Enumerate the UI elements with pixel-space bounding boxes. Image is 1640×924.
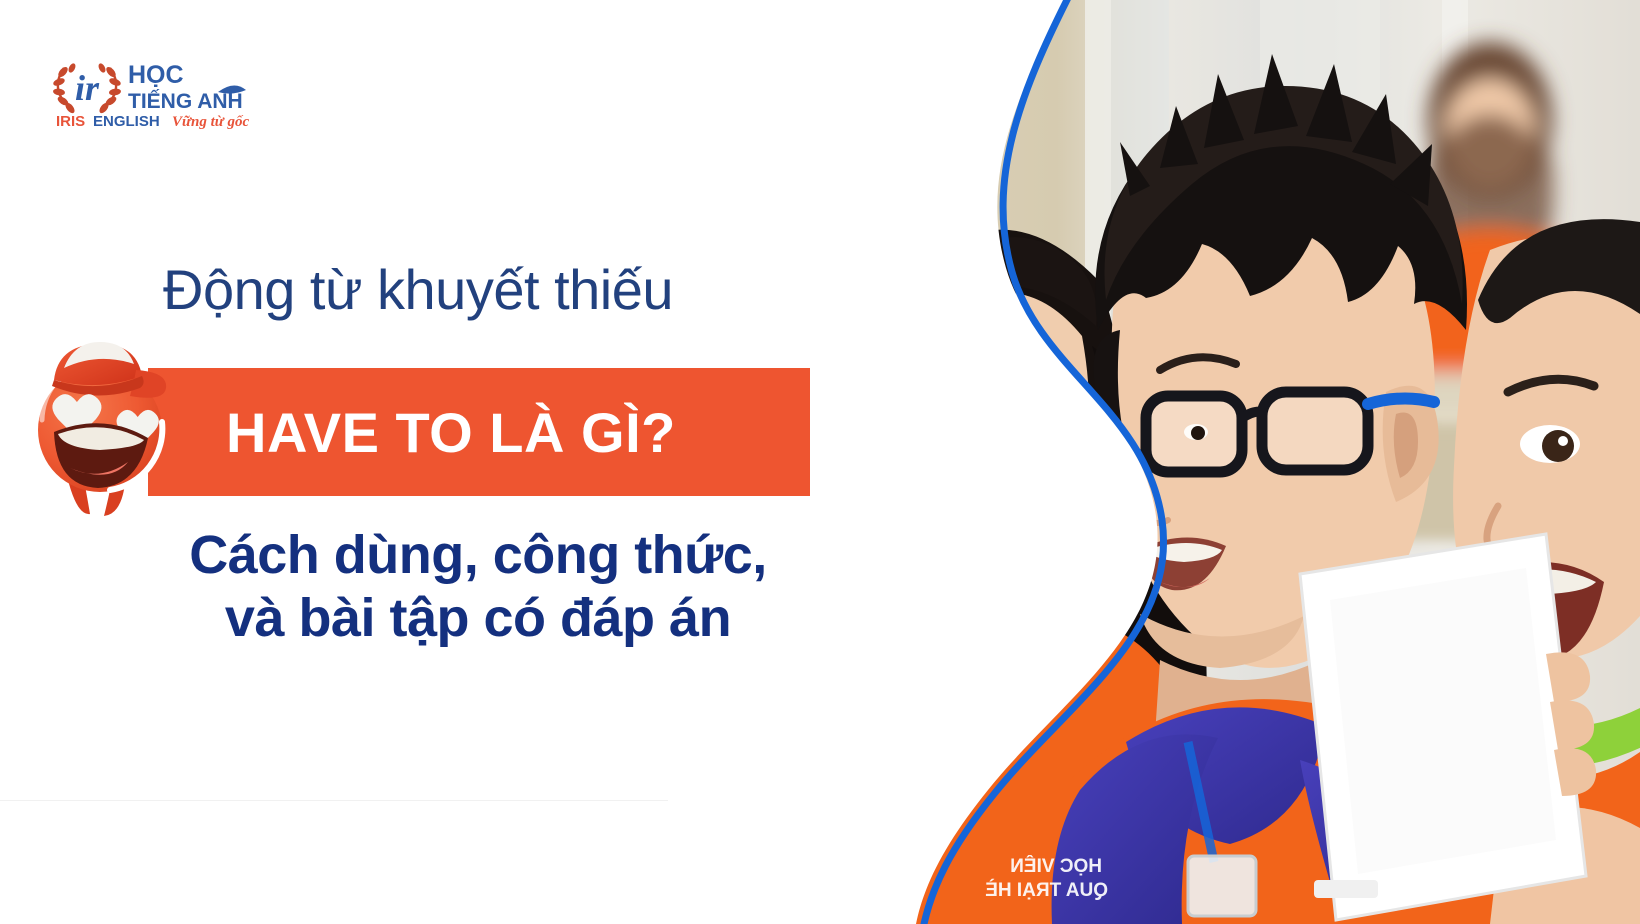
logo-tagline: Vững từ gốc [172, 114, 249, 130]
logo-name-part1: IRIS [56, 113, 85, 130]
page-subtitle: Cách dùng, công thức, và bài tập có đáp … [128, 524, 828, 650]
page-headline: Động từ khuyết thiếu [163, 262, 673, 318]
logo-svg: ir HỌC TIẾNG ANH IRIS ENGLISH Vững từ gố… [52, 48, 282, 130]
svg-text:HỌC VIÊN: HỌC VIÊN [1010, 855, 1102, 877]
photo-illustration: HỌC VIÊN QUA TRẠI HÈ [830, 0, 1640, 924]
mascot-svg [18, 322, 194, 518]
logo-line1: HỌC [128, 61, 184, 89]
logo-mark-text: ir [75, 68, 100, 108]
title-banner: HAVE TO LÀ GÌ? [148, 368, 810, 496]
logo-name-part2: ENGLISH [93, 113, 160, 130]
white-card [1300, 534, 1586, 920]
poster-canvas: HỌC VIÊN QUA TRẠI HÈ [0, 0, 1640, 924]
orange-heart-eyes-mascot [18, 322, 194, 518]
svg-text:QUA TRẠI HÈ: QUA TRẠI HÈ [985, 879, 1108, 901]
title-banner-label: HAVE TO LÀ GÌ? [148, 368, 810, 496]
logo-line2: TIẾNG ANH [128, 90, 243, 113]
mascot-cap [52, 342, 166, 398]
classroom-photo: HỌC VIÊN QUA TRẠI HÈ [830, 0, 1640, 924]
brand-logo[interactable]: ir HỌC TIẾNG ANH IRIS ENGLISH Vững từ gố… [52, 48, 282, 130]
subtitle-line-2: và bài tập có đáp án [128, 587, 828, 650]
subtitle-line-1: Cách dùng, công thức, [189, 525, 767, 585]
footer-hairline [0, 800, 668, 801]
